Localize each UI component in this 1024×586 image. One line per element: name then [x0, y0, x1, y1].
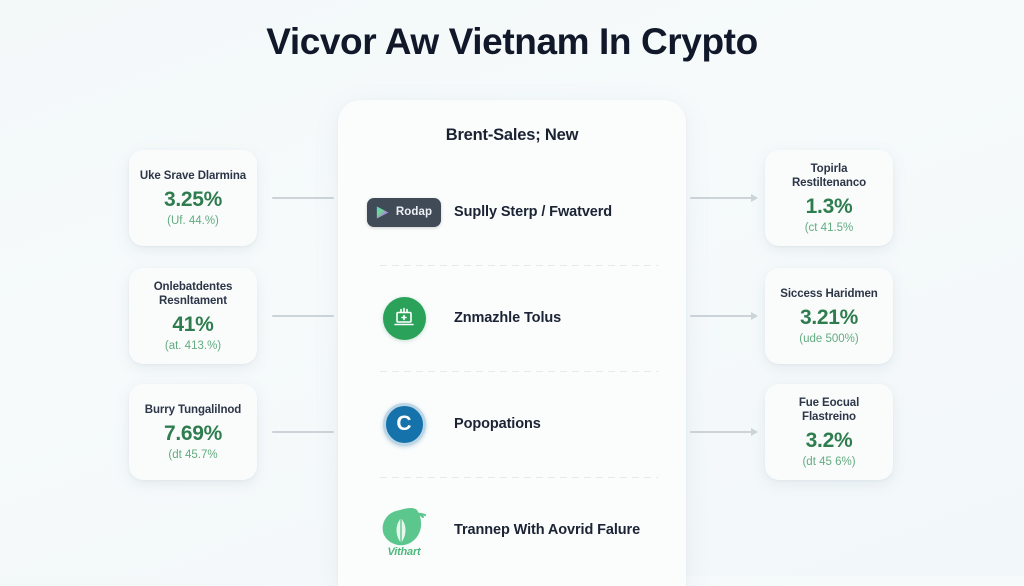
stat-card-value: 3.25% [164, 189, 222, 210]
stat-card-right-3[interactable]: Fue Eocual Flastreino 3.2% (dt 45 6%) [765, 384, 893, 480]
stat-card-value: 1.3% [806, 196, 853, 217]
row-label: Popopations [454, 416, 541, 432]
laptop-icon [392, 306, 416, 330]
connector-arrow-right-1 [690, 197, 752, 199]
stat-card-subvalue: (at. 413.%) [165, 341, 221, 353]
row-icon-slot: C [368, 403, 440, 446]
green-laptop-circle-icon[interactable] [383, 297, 426, 340]
list-item[interactable]: Znmazhle Tolus [338, 265, 686, 371]
page-title: Vicvor Aw Vietnam In Crypto [0, 20, 1024, 64]
stat-card-subvalue: (ude 500%) [799, 334, 858, 346]
infographic-canvas: Vicvor Aw Vietnam In Crypto Uke Srave Dl… [0, 0, 1024, 576]
row-label: Suplly Sterp / Fwatverd [454, 204, 612, 220]
center-row-list: Rodap Suplly Sterp / Fwatverd [338, 159, 686, 583]
rodap-badge-label: Rodap [396, 206, 432, 218]
play-triangle-icon [374, 204, 391, 221]
row-icon-slot: Vithart [368, 503, 440, 558]
connector-left-3 [272, 431, 334, 433]
connector-left-2 [272, 315, 334, 317]
stat-card-subvalue: (dt 45 6%) [802, 457, 855, 469]
stat-card-heading: Uke Srave Dlarmina [140, 169, 246, 184]
stat-card-value: 3.2% [806, 430, 853, 451]
stat-card-heading: Burry Tungalilnod [145, 403, 241, 418]
connector-left-1 [272, 197, 334, 199]
stat-card-left-1[interactable]: Uke Srave Dlarmina 3.25% (Uf. 44.%) [129, 150, 257, 246]
stat-card-heading: Onlebatdentes Resnltament [137, 280, 249, 309]
stat-card-heading: Fue Eocual Flastreino [773, 396, 885, 425]
row-icon-slot [368, 297, 440, 340]
stat-card-value: 41% [172, 314, 213, 335]
row-label: Trannep With Aovrid Falure [454, 522, 640, 538]
connector-arrow-right-2 [690, 315, 752, 317]
stat-card-left-3[interactable]: Burry Tungalilnod 7.69% (dt 45.7% [129, 384, 257, 480]
list-item[interactable]: Rodap Suplly Sterp / Fwatverd [338, 159, 686, 265]
stat-card-right-1[interactable]: Topirla Restiltenanco 1.3% (ct 41.5% [765, 150, 893, 246]
stat-card-heading: Topirla Restiltenanco [773, 162, 885, 191]
stat-card-value: 3.21% [800, 307, 858, 328]
stat-card-value: 7.69% [164, 423, 222, 444]
list-item[interactable]: Vithart Trannep With Aovrid Falure [338, 477, 686, 583]
vithart-leaf-logo-icon[interactable]: Vithart [377, 503, 431, 558]
row-label: Znmazhle Tolus [454, 310, 561, 326]
stat-card-left-2[interactable]: Onlebatdentes Resnltament 41% (at. 413.%… [129, 268, 257, 364]
center-panel: Brent-Sales; New [338, 100, 686, 586]
rodap-badge-icon[interactable]: Rodap [367, 198, 441, 227]
list-item[interactable]: C Popopations [338, 371, 686, 477]
stat-card-subvalue: (Uf. 44.%) [167, 216, 219, 228]
stat-card-heading: Siccess Haridmen [780, 287, 877, 302]
blue-letter-c-circle-icon[interactable]: C [383, 403, 426, 446]
vithart-wordmark: Vithart [387, 546, 420, 558]
row-icon-slot: Rodap [368, 198, 440, 227]
stat-card-right-2[interactable]: Siccess Haridmen 3.21% (ude 500%) [765, 268, 893, 364]
stat-card-subvalue: (dt 45.7% [168, 450, 217, 462]
connector-arrow-right-3 [690, 431, 752, 433]
center-panel-title: Brent-Sales; New [338, 100, 686, 145]
stat-card-subvalue: (ct 41.5% [805, 223, 854, 235]
